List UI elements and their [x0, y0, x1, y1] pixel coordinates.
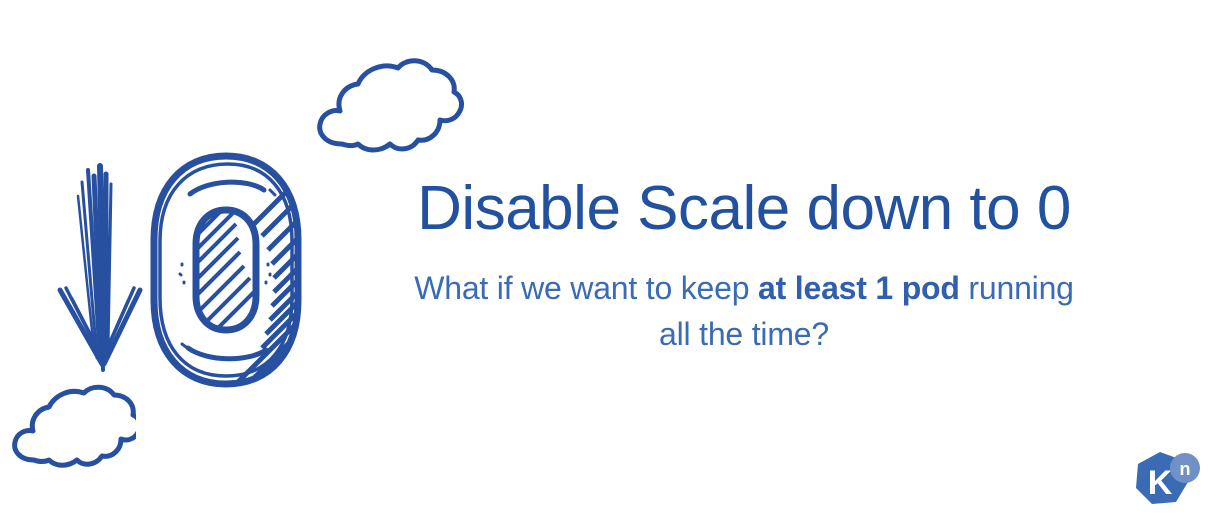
- subtitle-line-two: all the time?: [659, 316, 829, 352]
- subtitle-emphasis: at least 1 pod: [758, 270, 960, 306]
- page-subtitle: What if we want to keep at least 1 pod r…: [364, 265, 1124, 358]
- text-block: Disable Scale down to 0 What if we want …: [364, 176, 1124, 358]
- cloud-icon: [312, 52, 464, 156]
- logo-letter-k: K: [1148, 464, 1173, 502]
- page-title: Disable Scale down to 0: [364, 176, 1124, 241]
- slide-canvas: Disable Scale down to 0 What if we want …: [0, 0, 1212, 525]
- arrow-down-icon: [52, 162, 152, 374]
- subtitle-trail: running: [960, 270, 1074, 306]
- zero-digit-illustration: [142, 148, 310, 392]
- logo-letter-n: n: [1180, 459, 1191, 479]
- cloud-icon: [8, 380, 136, 472]
- subtitle-lead: What if we want to keep: [414, 270, 758, 306]
- brand-logo: K n: [1126, 446, 1202, 518]
